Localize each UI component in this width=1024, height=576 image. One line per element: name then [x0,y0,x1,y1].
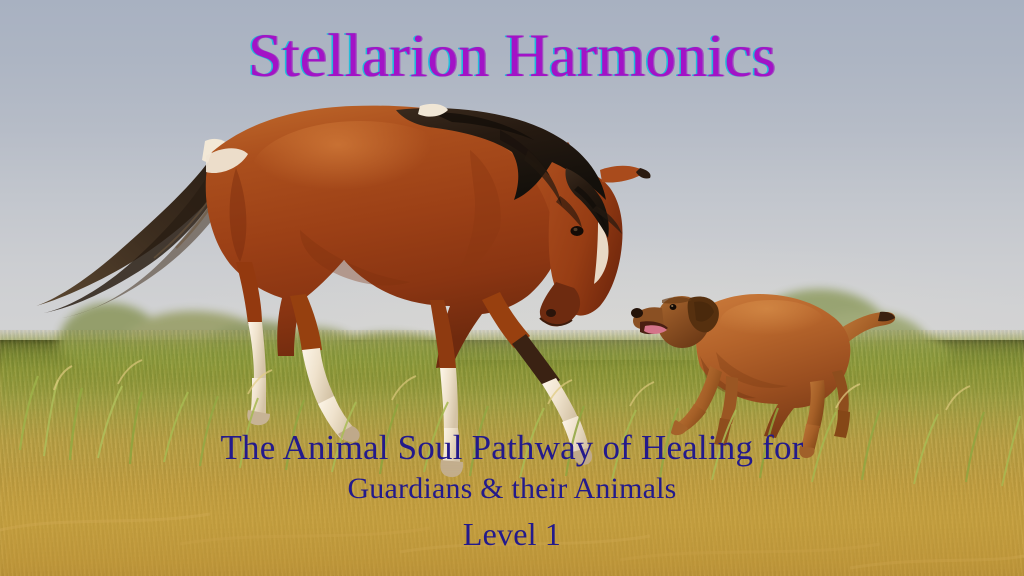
subtitle-block: The Animal Soul Pathway of Healing for G… [0,428,1024,557]
page-title: Stellarion Harmonics [0,24,1024,90]
subtitle-line-1: The Animal Soul Pathway of Healing for [0,428,1024,467]
poster-canvas: Stellarion Harmonics The Animal Soul Pat… [0,0,1024,576]
subtitle-line-3: Level 1 [0,511,1024,557]
subtitle-line-2: Guardians & their Animals [0,467,1024,511]
